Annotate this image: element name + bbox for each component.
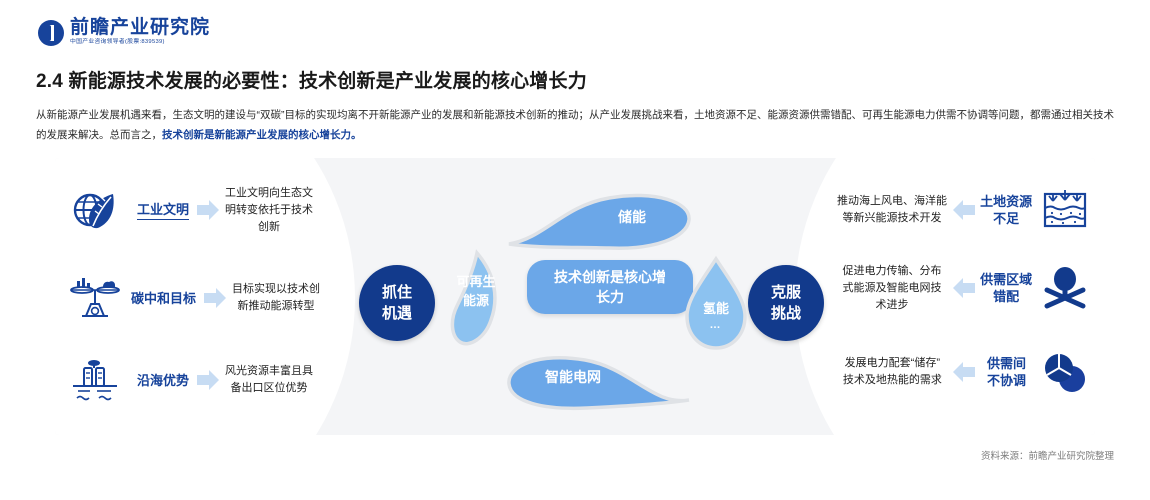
desc-line: 术进步 (835, 297, 949, 314)
kw-line: 供需区域 (980, 271, 1032, 288)
challenge-description-3: 发展电力配套“储存” 技术及地热能的需求 (835, 355, 950, 389)
hub-line: 克服 (771, 282, 801, 303)
leaf-hydrogen[interactable]: 氢能 … (683, 256, 749, 352)
opportunity-description-3: 风光资源丰富且具 备出口区位优势 (225, 363, 313, 397)
desc-line: 创新 (225, 219, 313, 236)
desc-line: 等新兴能源技术开发 (835, 210, 949, 227)
opportunity-description-1: 工业文明向生态文 明转变依托于技术 创新 (225, 185, 313, 236)
kw-line: 不协调 (981, 372, 1032, 389)
kw-line: 不足 (980, 210, 1032, 227)
challenge-description-1: 推动海上风电、海洋能 等新兴能源技术开发 (835, 193, 949, 227)
intro-highlight: 技术创新是新能源产业发展的核心增长力。 (162, 129, 362, 141)
opportunity-keyword-2: 碳中和目标 (131, 290, 196, 307)
core-line: 长力 (554, 287, 666, 307)
desc-line: 推动海上风电、海洋能 (835, 193, 949, 210)
arrow-left-icon (951, 277, 977, 299)
hub-line: 机遇 (382, 303, 412, 324)
desc-line: 式能源及智能电网技 (835, 280, 949, 297)
challenge-row-2: 促进电力传输、分布 式能源及智能电网技 术进步 供需区域 错配 (835, 262, 1091, 314)
source-note: 资料来源：前瞻产业研究院整理 (981, 448, 1114, 462)
opportunity-row-3: 沿海优势 风光资源丰富且具 备出口区位优势 (69, 354, 365, 406)
opportunity-hub[interactable]: 抓住 机遇 (359, 265, 435, 341)
challenge-row-3: 发展电力配套“储存” 技术及地热能的需求 供需间 不协调 (835, 346, 1091, 398)
opportunity-description-2: 目标实现以技术创 新推动能源转型 (232, 281, 320, 315)
arrow-right-icon (195, 199, 221, 221)
opportunity-row-1: 工业文明 工业文明向生态文 明转变依托于技术 创新 (69, 184, 365, 236)
desc-line: 工业文明向生态文 (225, 185, 313, 202)
desc-line: 明转变依托于技术 (225, 202, 313, 219)
arrow-right-icon (202, 287, 228, 309)
leaf-smart-grid[interactable]: 智能电网 (503, 350, 693, 412)
hub-line: 挑战 (771, 303, 801, 324)
challenge-row-1: 推动海上风电、海洋能 等新兴能源技术开发 土地资源 不足 (835, 184, 1091, 236)
globe-leaf-icon (69, 184, 121, 236)
logo-name: 前瞻产业研究院 (70, 18, 210, 38)
land-layers-icon (1039, 184, 1091, 236)
logo-subtitle: 中国产业咨询领导者(股票:839539) (70, 38, 206, 47)
core-message-pill[interactable]: 技术创新是核心增 长力 (527, 260, 693, 314)
opportunity-row-2: 碳中和目标 目标实现以技术创 新推动能源转型 (69, 272, 365, 324)
desc-line: 风光资源丰富且具 (225, 363, 313, 380)
logo-wordmark: 前瞻产业研究院 中国产业咨询领导者(股票:839539) (70, 18, 210, 47)
desc-line: 新推动能源转型 (232, 298, 320, 315)
kw-line: 土地资源 (980, 193, 1032, 210)
diagram-panel: 工业文明 工业文明向生态文 明转变依托于技术 创新 (55, 158, 1095, 435)
challenge-keyword-3: 供需间 不协调 (981, 355, 1032, 389)
desc-line: 备出口区位优势 (225, 380, 313, 397)
carbon-balance-icon (69, 272, 121, 324)
challenge-description-2: 促进电力传输、分布 式能源及智能电网技 术进步 (835, 263, 949, 314)
supply-node-icon (1039, 262, 1091, 314)
pie-discs-icon (1039, 346, 1091, 398)
arrow-left-icon (951, 361, 977, 383)
prospective-logo-icon (38, 20, 64, 46)
arrow-left-icon (951, 199, 977, 221)
arrow-right-icon (195, 369, 221, 391)
kw-line: 供需间 (981, 355, 1032, 372)
desc-line: 发展电力配套“储存” (835, 355, 950, 372)
company-logo: 前瞻产业研究院 中国产业咨询领导者(股票:839539) (38, 18, 210, 47)
core-line: 技术创新是核心增 (554, 267, 666, 287)
page-title: 2.4 新能源技术发展的必要性：技术创新是产业发展的核心增长力 (36, 66, 587, 93)
desc-line: 技术及地热能的需求 (835, 372, 950, 389)
desc-line: 促进电力传输、分布 (835, 263, 949, 280)
coastal-port-icon (69, 354, 121, 406)
challenge-keyword-1: 土地资源 不足 (980, 193, 1032, 227)
intro-paragraph: 从新能源产业发展机遇来看，生态文明的建设与“双碳”目标的实现均离不开新能源产业的… (36, 105, 1114, 145)
opportunity-keyword-1: 工业文明 (137, 201, 189, 220)
hub-line: 抓住 (382, 282, 412, 303)
leaf-energy-storage[interactable]: 储能 (505, 190, 695, 252)
opportunity-keyword-3: 沿海优势 (137, 372, 189, 389)
challenge-hub[interactable]: 克服 挑战 (748, 265, 824, 341)
challenge-keyword-2: 供需区域 错配 (980, 271, 1032, 305)
kw-line: 错配 (980, 288, 1032, 305)
leaf-renewable-energy[interactable]: 可再生能源 (447, 250, 503, 356)
desc-line: 目标实现以技术创 (232, 281, 320, 298)
